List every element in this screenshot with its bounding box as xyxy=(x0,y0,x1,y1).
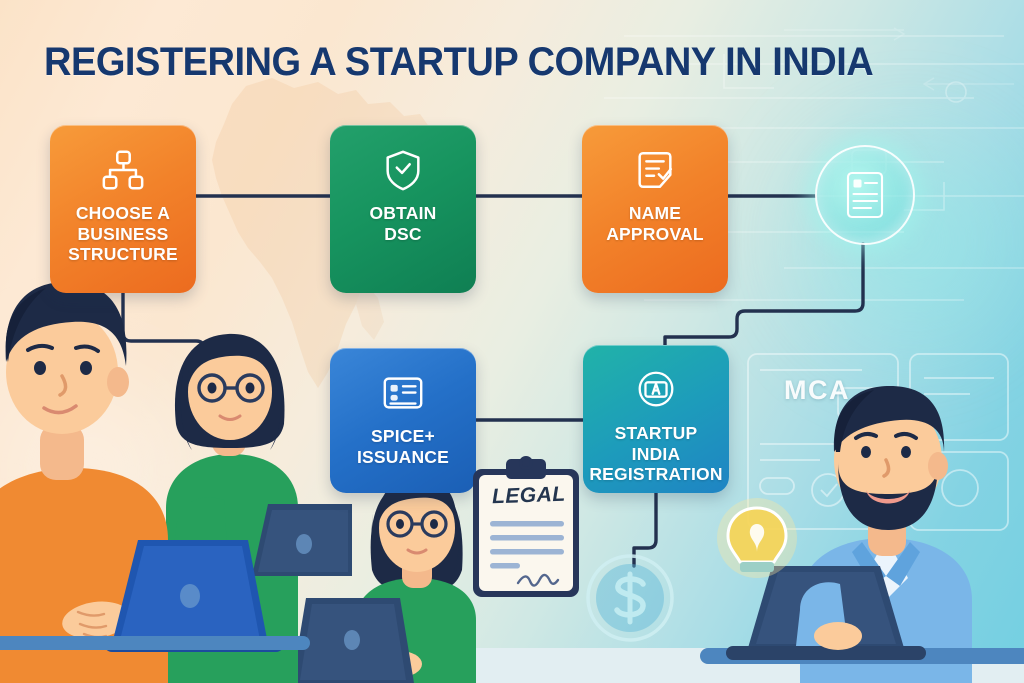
desk-left xyxy=(0,636,310,650)
id-form-icon xyxy=(380,370,426,416)
circle-badge-icon xyxy=(633,367,679,413)
step-card-label: OBTAIN DSC xyxy=(364,203,443,244)
certificate-node[interactable] xyxy=(815,145,915,245)
hierarchy-org-chart-icon xyxy=(100,147,146,193)
step-card-spice-plus-issuance[interactable]: SPICE+ ISSUANCE xyxy=(330,348,476,493)
document-checklist-check-icon xyxy=(632,147,678,193)
clipboard-icon xyxy=(470,455,582,599)
step-card-label: NAME APPROVAL xyxy=(600,203,710,244)
step-card-label: CHOOSE A BUSINESS STRUCTURE xyxy=(62,203,184,265)
step-card-label: SPICE+ ISSUANCE xyxy=(351,426,455,467)
step-card-name-approval[interactable]: NAME APPROVAL xyxy=(582,125,728,293)
clipboard-label: LEGAL xyxy=(492,483,566,510)
lightbulb-icon xyxy=(717,498,797,578)
step-card-startup-india-registration[interactable]: STARTUP INDIA REGISTRATION xyxy=(583,345,729,493)
step-card-obtain-dsc[interactable]: OBTAIN DSC xyxy=(330,125,476,293)
shield-check-icon xyxy=(380,147,426,193)
laptop-center xyxy=(292,598,414,683)
step-card-choose-business-structure[interactable]: CHOOSE A BUSINESS STRUCTURE xyxy=(50,125,196,293)
dollar-coin-icon xyxy=(588,556,672,640)
laptop-back-right xyxy=(252,504,352,576)
infographic-canvas: REGISTERING A STARTUP COMPANY IN INDIA xyxy=(0,0,1024,683)
step-card-label: STARTUP INDIA REGISTRATION xyxy=(583,423,729,485)
certificate-document-icon xyxy=(843,170,887,220)
